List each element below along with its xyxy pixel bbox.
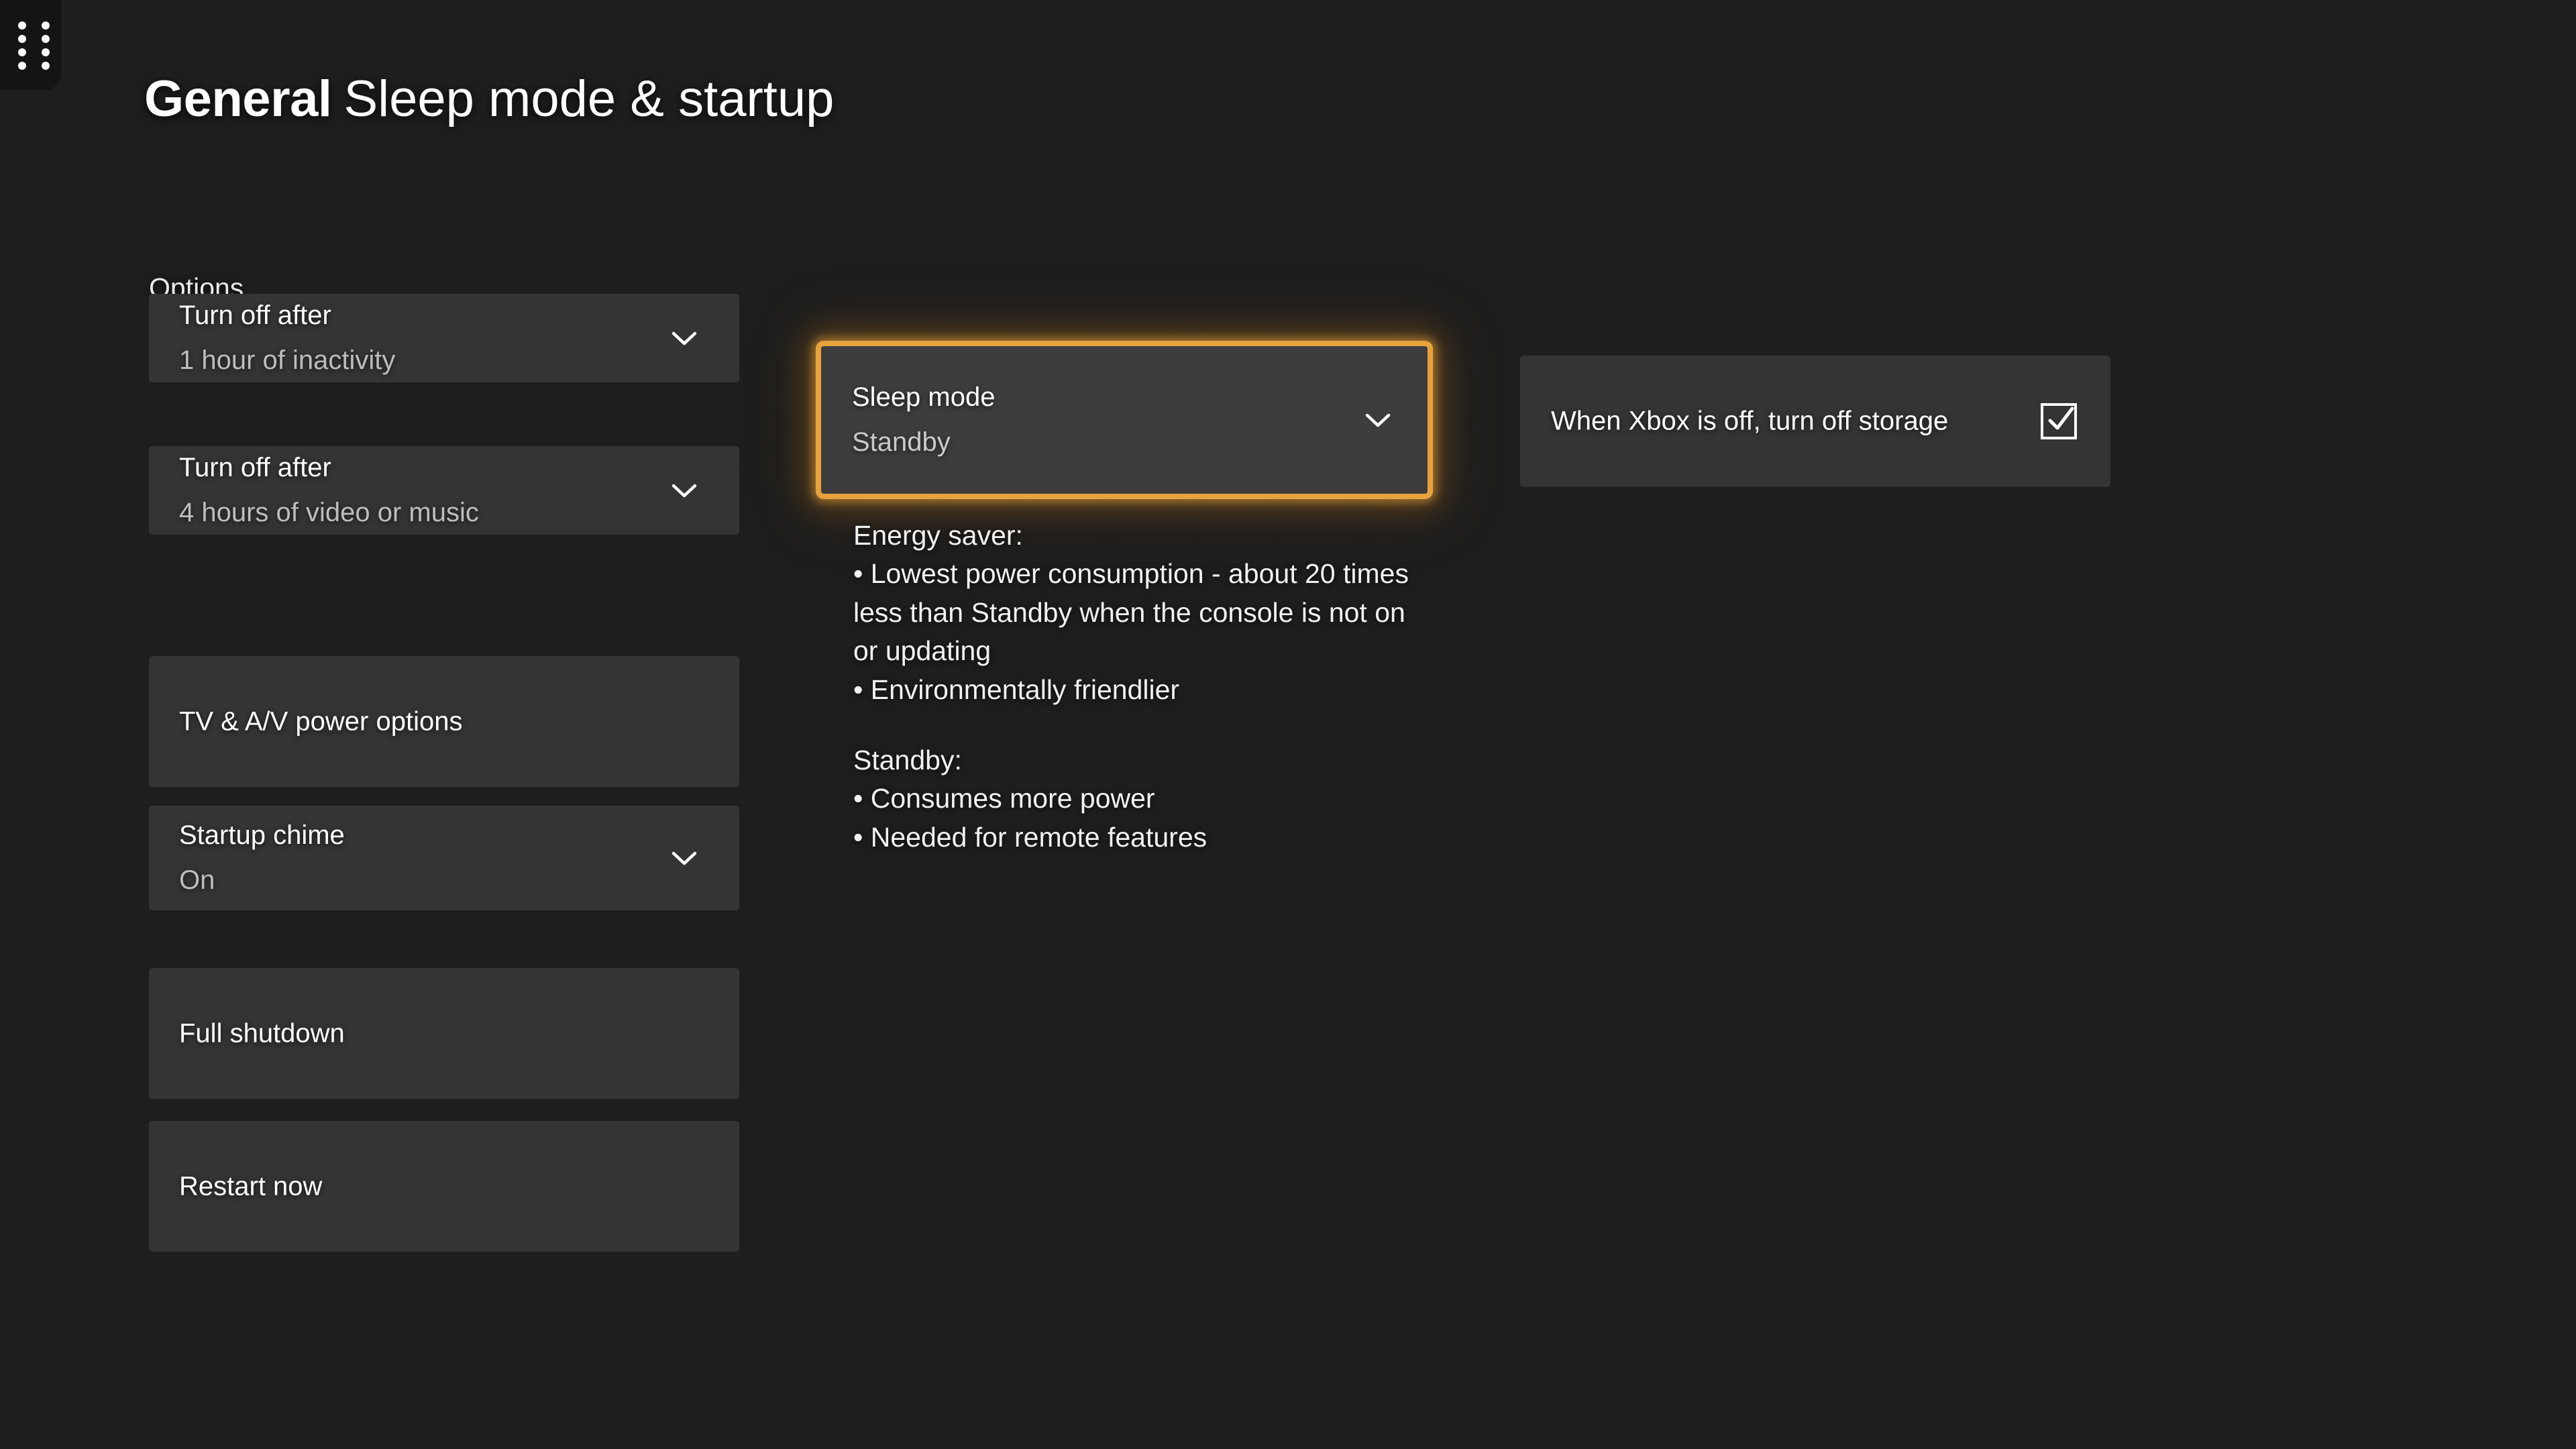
energy-saver-heading: Energy saver:: [853, 517, 1417, 555]
energy-saver-bullet: • Lowest power consumption - about 20 ti…: [853, 555, 1417, 670]
option-title: Turn off after: [179, 301, 659, 331]
standby-heading: Standby:: [853, 741, 1417, 780]
chevron-down-icon[interactable]: [667, 473, 702, 508]
grip-dots-icon: [14, 21, 53, 68]
option-card-text: Restart now: [179, 1171, 659, 1201]
option-card-full-shutdown[interactable]: Full shutdown: [149, 968, 739, 1099]
chevron-down-icon[interactable]: [1360, 402, 1395, 437]
option-value: On: [179, 865, 659, 896]
sleep-mode-title: Sleep mode: [852, 382, 1354, 413]
description-group-standby: Standby: • Consumes more power • Needed …: [853, 741, 1417, 857]
standby-bullet: • Consumes more power: [853, 780, 1417, 818]
standby-bullet: • Needed for remote features: [853, 818, 1417, 857]
option-title: Restart now: [179, 1171, 659, 1201]
option-card-text: Startup chime On: [179, 820, 659, 896]
energy-saver-bullet: • Environmentally friendlier: [853, 671, 1417, 709]
option-card-turn-off-after-inactivity[interactable]: Turn off after 1 hour of inactivity: [149, 294, 739, 382]
window-drag-handle[interactable]: [0, 0, 61, 90]
page-title: GeneralSleep mode & startup: [144, 74, 834, 125]
option-title: TV & A/V power options: [179, 706, 659, 737]
sleep-mode-dropdown[interactable]: Sleep mode Standby: [816, 341, 1433, 499]
option-value: 4 hours of video or music: [179, 498, 659, 528]
page-title-category: General: [144, 70, 332, 127]
option-value: 1 hour of inactivity: [179, 345, 659, 376]
storage-off-label: When Xbox is off, turn off storage: [1551, 405, 1953, 438]
chevron-down-icon[interactable]: [667, 841, 702, 875]
checkbox-checked-icon[interactable]: [2041, 403, 2077, 439]
option-title: Turn off after: [179, 453, 659, 483]
option-card-text: TV & A/V power options: [179, 706, 659, 737]
option-title: Full shutdown: [179, 1018, 659, 1049]
option-card-turn-off-after-video[interactable]: Turn off after 4 hours of video or music: [149, 446, 739, 535]
option-card-text: Turn off after 4 hours of video or music: [179, 453, 659, 528]
option-card-restart-now[interactable]: Restart now: [149, 1121, 739, 1252]
storage-off-checkbox-card[interactable]: When Xbox is off, turn off storage: [1520, 356, 2110, 487]
option-title: Startup chime: [179, 820, 659, 851]
page-title-name: Sleep mode & startup: [344, 70, 835, 127]
xbox-settings-page: GeneralSleep mode & startup Options Turn…: [0, 0, 2576, 1449]
sleep-mode-description: Energy saver: • Lowest power consumption…: [853, 517, 1417, 857]
chevron-down-icon[interactable]: [667, 321, 702, 356]
option-card-startup-chime[interactable]: Startup chime On: [149, 806, 739, 910]
sleep-mode-card-text: Sleep mode Standby: [852, 382, 1354, 458]
option-card-tv-av-power-options[interactable]: TV & A/V power options: [149, 656, 739, 787]
option-card-text: Turn off after 1 hour of inactivity: [179, 301, 659, 376]
sleep-mode-value: Standby: [852, 427, 1354, 458]
option-card-text: Full shutdown: [179, 1018, 659, 1049]
description-group-energy-saver: Energy saver: • Lowest power consumption…: [853, 517, 1417, 709]
